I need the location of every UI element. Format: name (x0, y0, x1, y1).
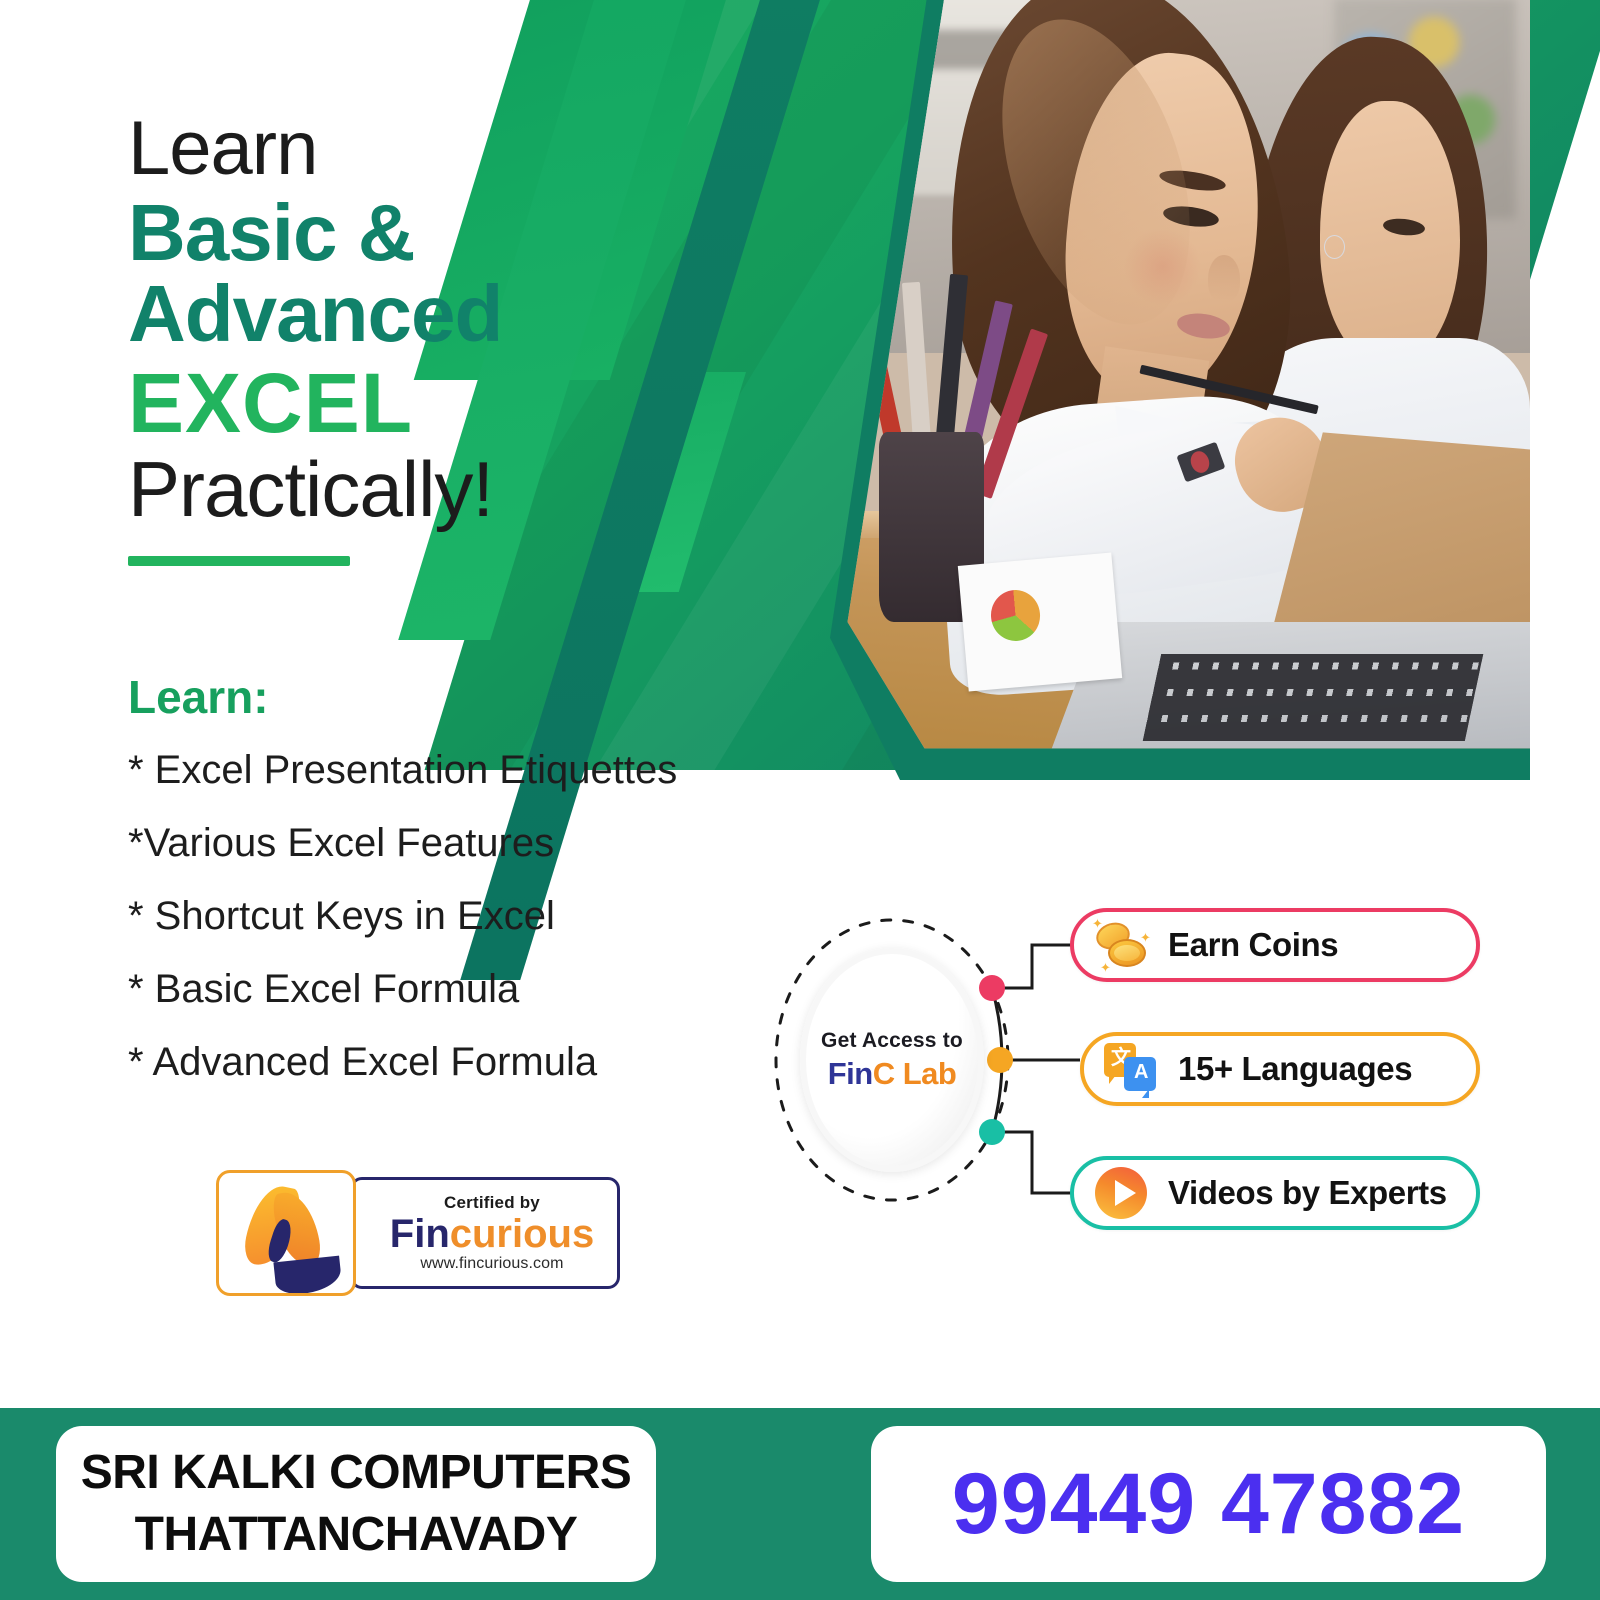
headline-line-5: Practically! (128, 450, 688, 530)
list-item: *Various Excel Features (128, 823, 828, 863)
fincurious-website-url: www.fincurious.com (420, 1255, 563, 1273)
node-dot-videos (979, 1119, 1005, 1145)
finc-logo-lab: Lab (895, 1056, 957, 1091)
headline-line-1: Learn (128, 110, 688, 188)
mindmap-node-label: 15+ Languages (1178, 1050, 1412, 1088)
flame-logo-icon (216, 1170, 356, 1296)
mindmap-node-videos[interactable]: Videos by Experts (1070, 1156, 1480, 1230)
translate-icon: 文 A (1102, 1041, 1164, 1097)
mindmap-node-earn-coins[interactable]: ✦✦✦ Earn Coins (1070, 908, 1480, 982)
hero-photo-container (830, 0, 1530, 780)
brand-suffix: curious (450, 1212, 594, 1256)
hero-photo (830, 0, 1530, 780)
phone-number: 99449 47882 (952, 1455, 1465, 1554)
business-name-line-1: SRI KALKI COMPUTERS (81, 1448, 632, 1498)
branch-coins (992, 945, 1072, 988)
fincurious-brand-name: Fincurious (390, 1213, 594, 1255)
business-name-box: SRI KALKI COMPUTERS THATTANCHAVADY (56, 1426, 656, 1582)
list-item: * Advanced Excel Formula (128, 1042, 828, 1082)
learn-list-block: Learn: * Excel Presentation Etiquettes *… (128, 670, 828, 1115)
fincurious-text-box: Certified by Fincurious www.fincurious.c… (350, 1177, 620, 1289)
headline-line-2: Basic & (128, 192, 688, 274)
coins-icon: ✦✦✦ (1092, 917, 1154, 973)
mindmap-node-label: Videos by Experts (1168, 1174, 1447, 1212)
poster-canvas: Learn Basic & Advanced EXCEL Practically… (0, 0, 1600, 1600)
list-item: * Basic Excel Formula (128, 969, 828, 1009)
center-node-caption: Get Access to (821, 1029, 963, 1053)
business-name-line-2: THATTANCHAVADY (135, 1510, 578, 1560)
finc-logo-c: C (873, 1056, 895, 1091)
branch-videos (992, 1132, 1072, 1193)
play-icon (1092, 1165, 1154, 1221)
mindmap-node-languages[interactable]: 文 A 15+ Languages (1080, 1032, 1480, 1106)
list-item: * Excel Presentation Etiquettes (128, 750, 828, 790)
headline-line-4: EXCEL (128, 361, 688, 447)
mindmap-node-label: Earn Coins (1168, 926, 1338, 964)
brand-prefix: Fin (390, 1212, 450, 1256)
finc-lab-mindmap: Get Access to FinC Lab ✦✦✦ Earn Coins 文 … (760, 870, 1520, 1240)
learn-list-title: Learn: (128, 670, 828, 724)
headline-block: Learn Basic & Advanced EXCEL Practically… (128, 110, 688, 566)
footer-bar: SRI KALKI COMPUTERS THATTANCHAVADY 99449… (0, 1408, 1600, 1600)
node-dot-languages (987, 1047, 1013, 1073)
headline-underline-rule (128, 556, 350, 566)
mindmap-center-node: Get Access to FinC Lab (800, 948, 984, 1172)
finc-logo-fin: Fin (828, 1056, 873, 1091)
list-item: * Shortcut Keys in Excel (128, 896, 828, 936)
node-dot-coins (979, 975, 1005, 1001)
certified-by-label: Certified by (444, 1193, 540, 1213)
headline-line-3: Advanced (128, 273, 688, 355)
finc-lab-logo: FinC Lab (828, 1056, 957, 1092)
fincurious-certification-badge: Certified by Fincurious www.fincurious.c… (216, 1170, 620, 1296)
phone-number-box[interactable]: 99449 47882 (871, 1426, 1546, 1582)
